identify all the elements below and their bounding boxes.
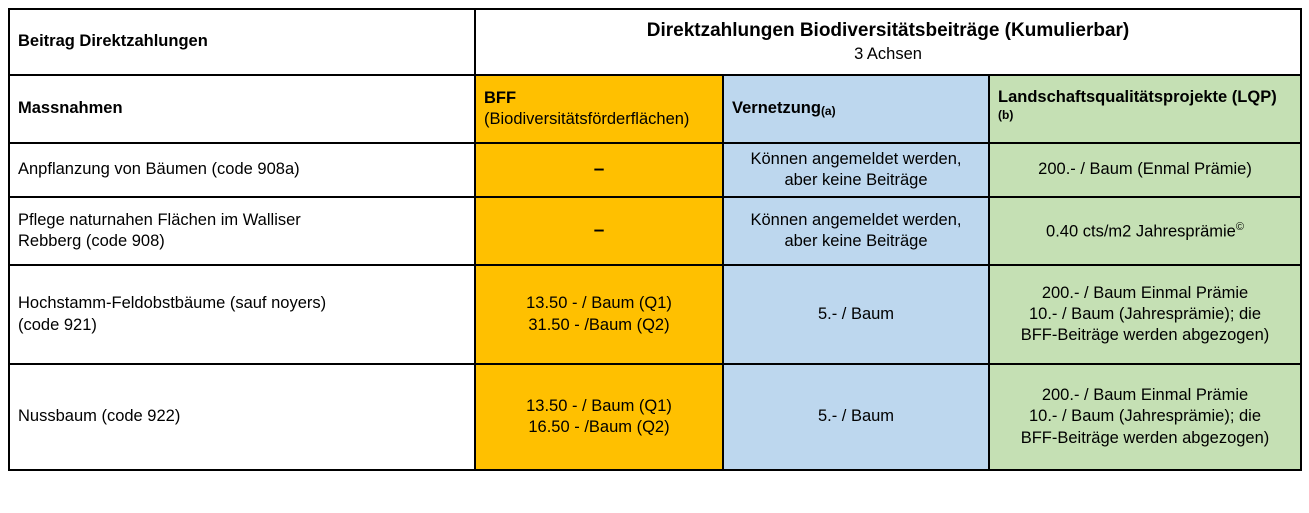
row-vernetzung-line1: 5.- / Baum xyxy=(732,304,980,325)
header-direktzahlungen-biodiversitaet: Direktzahlungen Biodiversitätsbeiträge (… xyxy=(475,9,1301,75)
row-lqp-value: 200.- / Baum Einmal Prämie 10.- / Baum (… xyxy=(989,364,1301,470)
footnote-marker-b: (b) xyxy=(998,108,1013,122)
row-lqp-value: 200.- / Baum Einmal Prämie 10.- / Baum (… xyxy=(989,265,1301,364)
row-vernetzung-value: 5.- / Baum xyxy=(723,265,989,364)
row-bff-value: – xyxy=(475,143,723,197)
row-bff-value: 13.50 - / Baum (Q1) 16.50 - /Baum (Q2) xyxy=(475,364,723,470)
column-header-vernetzung-label: Vernetzung xyxy=(732,99,821,117)
row-lqp-line2: 10.- / Baum (Jahresprämie); die xyxy=(998,406,1292,427)
column-header-lqp-label: Landschaftsqualitätsprojekte (LQP) xyxy=(998,88,1277,106)
row-vernetzung-line1: Können angemeldet werden, xyxy=(732,149,980,170)
column-header-lqp: Landschaftsqualitätsprojekte (LQP)(b) xyxy=(989,75,1301,143)
row-lqp-line3: BFF-Beiträge werden abgezogen) xyxy=(998,325,1292,346)
row-measure-name: Nussbaum (code 922) xyxy=(9,364,475,470)
row-measure-line1: Hochstamm-Feldobstbäume (sauf noyers) xyxy=(18,293,466,314)
row-measure-name: Hochstamm-Feldobstbäume (sauf noyers) (c… xyxy=(9,265,475,364)
row-lqp-value: 0.40 cts/m2 Jahresprämie© xyxy=(989,197,1301,265)
row-vernetzung-line2: aber keine Beiträge xyxy=(732,231,980,252)
header-payments-title: Direktzahlungen Biodiversitätsbeiträge (… xyxy=(484,19,1292,44)
row-lqp-line1: 0.40 cts/m2 Jahresprämie© xyxy=(998,220,1292,243)
row-bff-line2: 16.50 - /Baum (Q2) xyxy=(484,417,714,438)
copyright-superscript: © xyxy=(1236,221,1244,233)
row-bff-line1: 13.50 - / Baum (Q1) xyxy=(484,396,714,417)
header-payments-subtitle: 3 Achsen xyxy=(484,43,1292,65)
column-header-massnahmen: Massnahmen xyxy=(9,75,475,143)
column-header-bff: BFF (Biodiversitätsförderflächen) xyxy=(475,75,723,143)
row-measure-name: Anpflanzung von Bäumen (code 908a) xyxy=(9,143,475,197)
table-row: Anpflanzung von Bäumen (code 908a) – Kön… xyxy=(9,143,1301,197)
row-vernetzung-value: Können angemeldet werden, aber keine Bei… xyxy=(723,197,989,265)
row-lqp-line1: 200.- / Baum Einmal Prämie xyxy=(998,385,1292,406)
row-lqp-line1-text: 0.40 cts/m2 Jahresprämie xyxy=(1046,222,1236,240)
table-row: Nussbaum (code 922) 13.50 - / Baum (Q1) … xyxy=(9,364,1301,470)
header-beitrag-direktzahlungen: Beitrag Direktzahlungen xyxy=(9,9,475,75)
row-bff-line2: 31.50 - /Baum (Q2) xyxy=(484,315,714,336)
row-vernetzung-value: 5.- / Baum xyxy=(723,364,989,470)
row-measure-line2: (code 921) xyxy=(18,315,466,336)
table-header-row-columns: Massnahmen BFF (Biodiversitätsförderfläc… xyxy=(9,75,1301,143)
row-lqp-value: 200.- / Baum (Enmal Prämie) xyxy=(989,143,1301,197)
table-header-row-title: Beitrag Direktzahlungen Direktzahlungen … xyxy=(9,9,1301,75)
row-lqp-line1: 200.- / Baum (Enmal Prämie) xyxy=(998,159,1292,180)
column-header-vernetzung: Vernetzung(a) xyxy=(723,75,989,143)
table-row: Pflege naturnahen Flächen im Walliser Re… xyxy=(9,197,1301,265)
row-measure-line2: Rebberg (code 908) xyxy=(18,231,466,252)
row-lqp-line1: 200.- / Baum Einmal Prämie xyxy=(998,283,1292,304)
column-header-bff-full: (Biodiversitätsförderflächen) xyxy=(484,109,714,130)
row-vernetzung-line2: aber keine Beiträge xyxy=(732,170,980,191)
row-bff-value: – xyxy=(475,197,723,265)
column-header-bff-abbr: BFF xyxy=(484,88,714,109)
row-measure-line1: Pflege naturnahen Flächen im Walliser xyxy=(18,210,466,231)
row-vernetzung-line1: 5.- / Baum xyxy=(732,406,980,427)
row-measure-name: Pflege naturnahen Flächen im Walliser Re… xyxy=(9,197,475,265)
table-row: Hochstamm-Feldobstbäume (sauf noyers) (c… xyxy=(9,265,1301,364)
row-vernetzung-line1: Können angemeldet werden, xyxy=(732,210,980,231)
row-bff-value: 13.50 - / Baum (Q1) 31.50 - /Baum (Q2) xyxy=(475,265,723,364)
row-vernetzung-value: Können angemeldet werden, aber keine Bei… xyxy=(723,143,989,197)
row-bff-line1: 13.50 - / Baum (Q1) xyxy=(484,293,714,314)
direct-payments-table-container: Beitrag Direktzahlungen Direktzahlungen … xyxy=(8,8,1300,471)
direct-payments-table: Beitrag Direktzahlungen Direktzahlungen … xyxy=(8,8,1302,471)
row-lqp-line3: BFF-Beiträge werden abgezogen) xyxy=(998,428,1292,449)
footnote-marker-a: (a) xyxy=(821,104,836,118)
row-lqp-line2: 10.- / Baum (Jahresprämie); die xyxy=(998,304,1292,325)
